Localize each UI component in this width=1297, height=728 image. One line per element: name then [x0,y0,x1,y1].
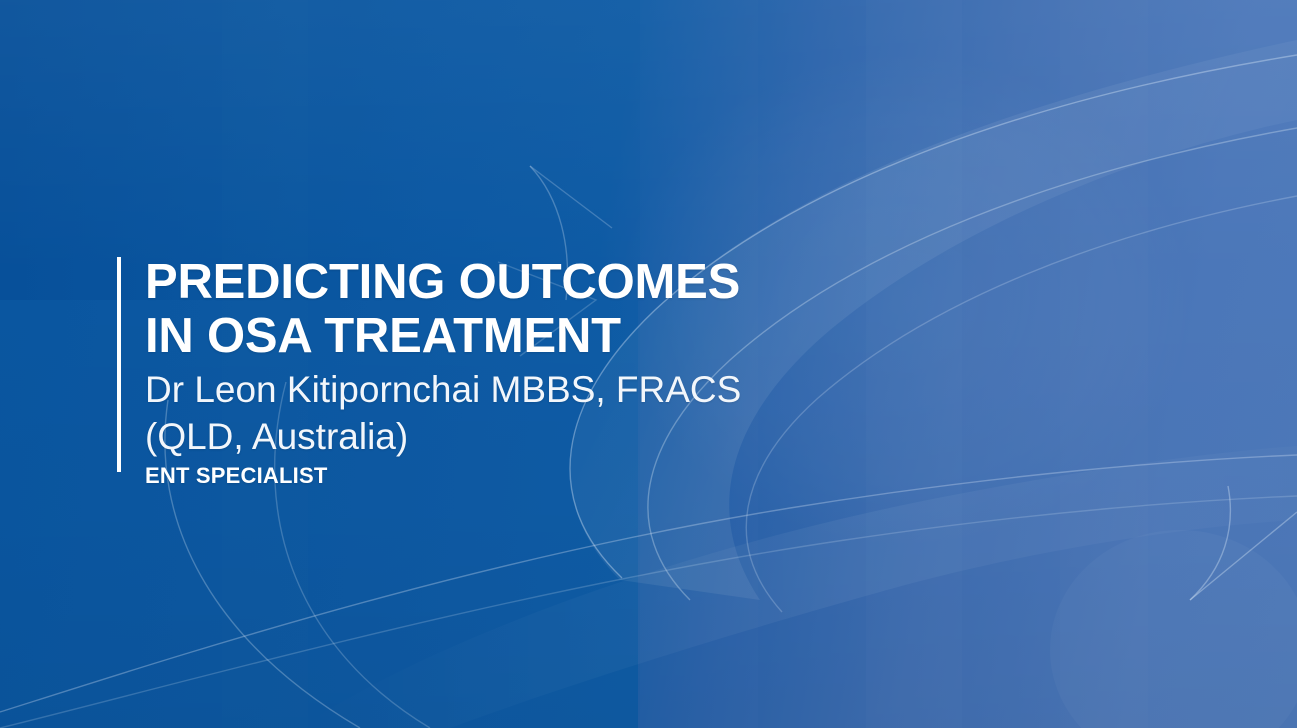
page-title-line-1: PREDICTING OUTCOMES [145,255,741,309]
page-title-line-2: IN OSA TREATMENT [145,309,741,363]
title-slide: PREDICTING OUTCOMES IN OSA TREATMENT Dr … [0,0,1297,728]
presenter-name: Dr Leon Kitipornchai MBBS, FRACS [145,369,741,410]
presenter-role: ENT SPECIALIST [145,463,741,489]
accent-bar [117,257,121,472]
presenter-location: (QLD, Australia) [145,416,741,457]
title-text-block: PREDICTING OUTCOMES IN OSA TREATMENT Dr … [117,255,741,473]
